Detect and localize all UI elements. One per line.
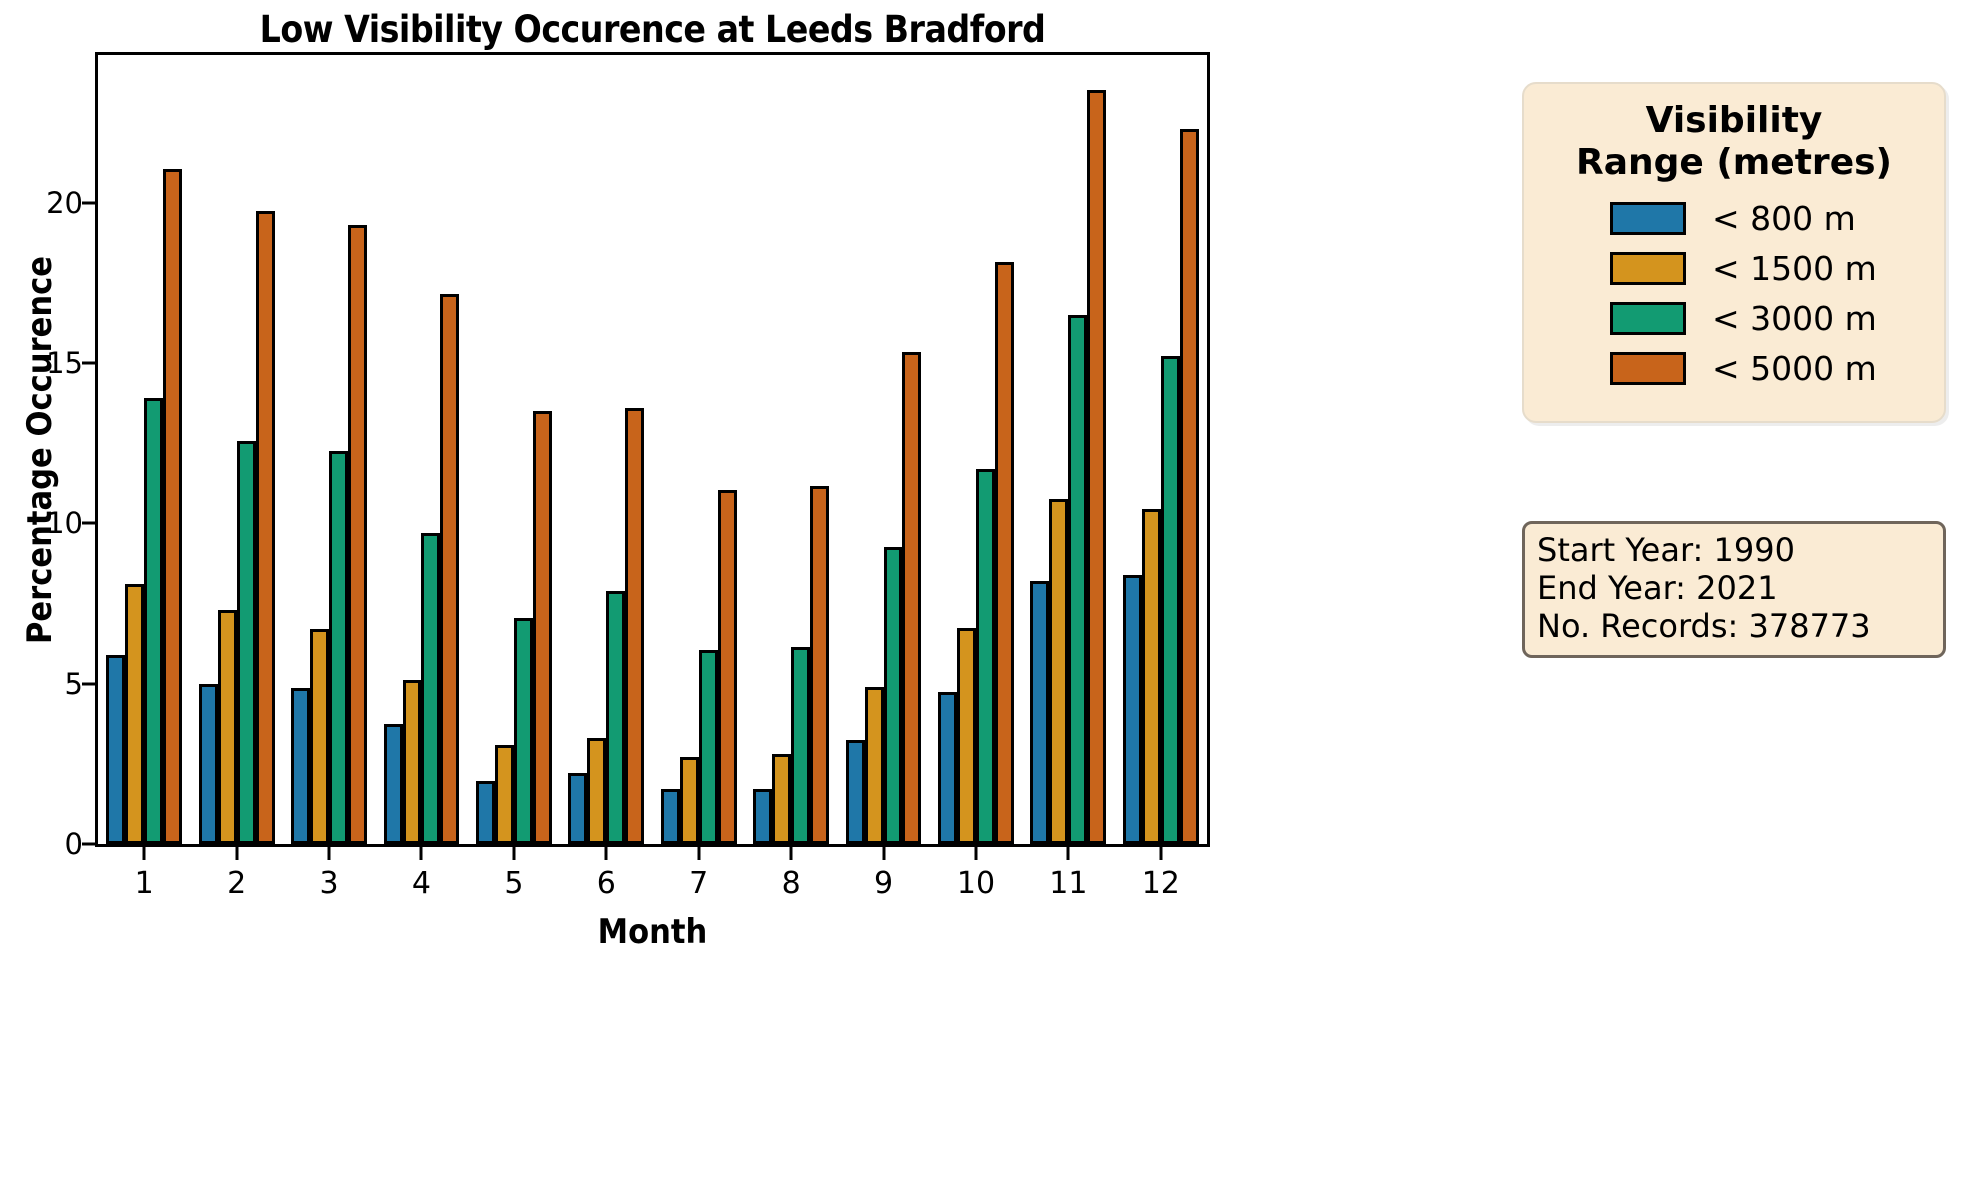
x-tick-mark [1159,847,1162,860]
bar[interactable] [1030,581,1049,844]
start-year-line: Start Year: 1990 [1537,532,1931,570]
bar[interactable] [106,655,125,844]
bar[interactable] [310,629,329,844]
bar[interactable] [1123,575,1142,844]
legend-item-label: < 3000 m [1712,299,1877,338]
bar[interactable] [680,757,699,844]
x-tick-mark [420,847,423,860]
x-tick-mark [605,847,608,860]
bar[interactable] [606,591,625,844]
x-tick-label: 5 [484,866,544,901]
x-tick-label: 9 [854,866,914,901]
bar[interactable] [421,533,440,844]
y-tick-mark [82,843,95,846]
info-box: Start Year: 1990 End Year: 2021 No. Reco… [1522,521,1946,658]
legend-item-label: < 5000 m [1712,349,1877,388]
bar[interactable] [1049,499,1068,844]
bar[interactable] [625,408,644,844]
bar[interactable] [957,628,976,844]
legend-item-2[interactable]: < 1500 m [1538,249,1930,288]
legend-item-4[interactable]: < 5000 m [1538,349,1930,388]
bar[interactable] [384,724,403,844]
plot-area [98,55,1207,844]
y-tick-label: 10 [13,506,83,540]
x-tick-label: 3 [299,866,359,901]
bar[interactable] [125,584,144,844]
bar[interactable] [568,773,587,844]
bar[interactable] [1161,356,1180,844]
bar[interactable] [237,441,256,844]
bar[interactable] [938,692,957,844]
bar[interactable] [884,547,903,844]
legend-item-3[interactable]: < 3000 m [1538,299,1930,338]
x-tick-mark [235,847,238,860]
bar[interactable] [144,398,163,844]
bar[interactable] [163,169,182,844]
bar[interactable] [661,789,680,844]
x-tick-label: 11 [1038,866,1098,901]
x-tick-label: 4 [391,866,451,901]
y-tick-label: 5 [13,667,83,701]
bar[interactable] [902,352,921,844]
x-axis-label: Month [95,912,1210,952]
x-tick-mark [974,847,977,860]
legend-item-label: < 800 m [1712,199,1856,238]
legend-title: Visibility Range (metres) [1538,100,1930,185]
bar[interactable] [699,650,718,844]
page-title: Low Visibility Occurence at Leeds Bradfo… [95,8,1210,51]
y-tick-label: 15 [13,346,83,380]
bar[interactable] [514,618,533,844]
bar[interactable] [291,688,310,844]
bar[interactable] [495,745,514,844]
legend-item-label: < 1500 m [1712,249,1877,288]
legend-swatch-icon [1610,302,1686,335]
chart-root: Low Visibility Occurence at Leeds Bradfo… [0,0,1966,1179]
legend-swatch-icon [1610,352,1686,385]
bar[interactable] [846,740,865,844]
x-tick-mark [697,847,700,860]
bar[interactable] [1068,315,1087,844]
legend-title-line-2: Range (metres) [1538,142,1930,184]
y-tick-label: 20 [13,186,83,220]
bar[interactable] [256,211,275,844]
x-tick-label: 1 [114,866,174,901]
legend-items: < 800 m< 1500 m< 3000 m< 5000 m [1538,199,1930,388]
y-tick-label: 0 [13,827,83,861]
bar[interactable] [1180,129,1199,844]
bar[interactable] [995,262,1014,844]
records-line: No. Records: 378773 [1537,608,1931,646]
bar[interactable] [440,294,459,844]
x-tick-label: 6 [576,866,636,901]
x-tick-mark [512,847,515,860]
bar[interactable] [810,486,829,844]
bar[interactable] [976,469,995,844]
bar[interactable] [718,490,737,844]
x-tick-mark [882,847,885,860]
x-tick-label: 10 [946,866,1006,901]
bar[interactable] [753,789,772,844]
bar[interactable] [1142,509,1161,844]
x-tick-mark [1067,847,1070,860]
bar[interactable] [772,754,791,844]
x-tick-label: 12 [1131,866,1191,901]
bar[interactable] [218,610,237,844]
bar[interactable] [199,684,218,844]
bar[interactable] [533,411,552,844]
bar[interactable] [865,687,884,844]
bar[interactable] [1087,90,1106,844]
bar[interactable] [587,738,606,844]
x-tick-mark [143,847,146,860]
bar[interactable] [329,451,348,844]
legend-panel: Visibility Range (metres) < 800 m< 1500 … [1522,82,1946,423]
legend-title-line-1: Visibility [1538,100,1930,142]
legend-swatch-icon [1610,202,1686,235]
x-tick-label: 2 [207,866,267,901]
x-tick-label: 7 [669,866,729,901]
y-tick-mark [82,361,95,364]
x-tick-mark [328,847,331,860]
legend-swatch-icon [1610,252,1686,285]
y-tick-mark [82,201,95,204]
y-tick-mark [82,682,95,685]
bar[interactable] [791,647,810,844]
x-tick-mark [790,847,793,860]
legend-item-1[interactable]: < 800 m [1538,199,1930,238]
bar[interactable] [348,225,367,844]
end-year-line: End Year: 2021 [1537,570,1931,608]
bar[interactable] [476,781,495,844]
x-tick-label: 8 [761,866,821,901]
y-tick-mark [82,522,95,525]
bar[interactable] [403,680,422,844]
